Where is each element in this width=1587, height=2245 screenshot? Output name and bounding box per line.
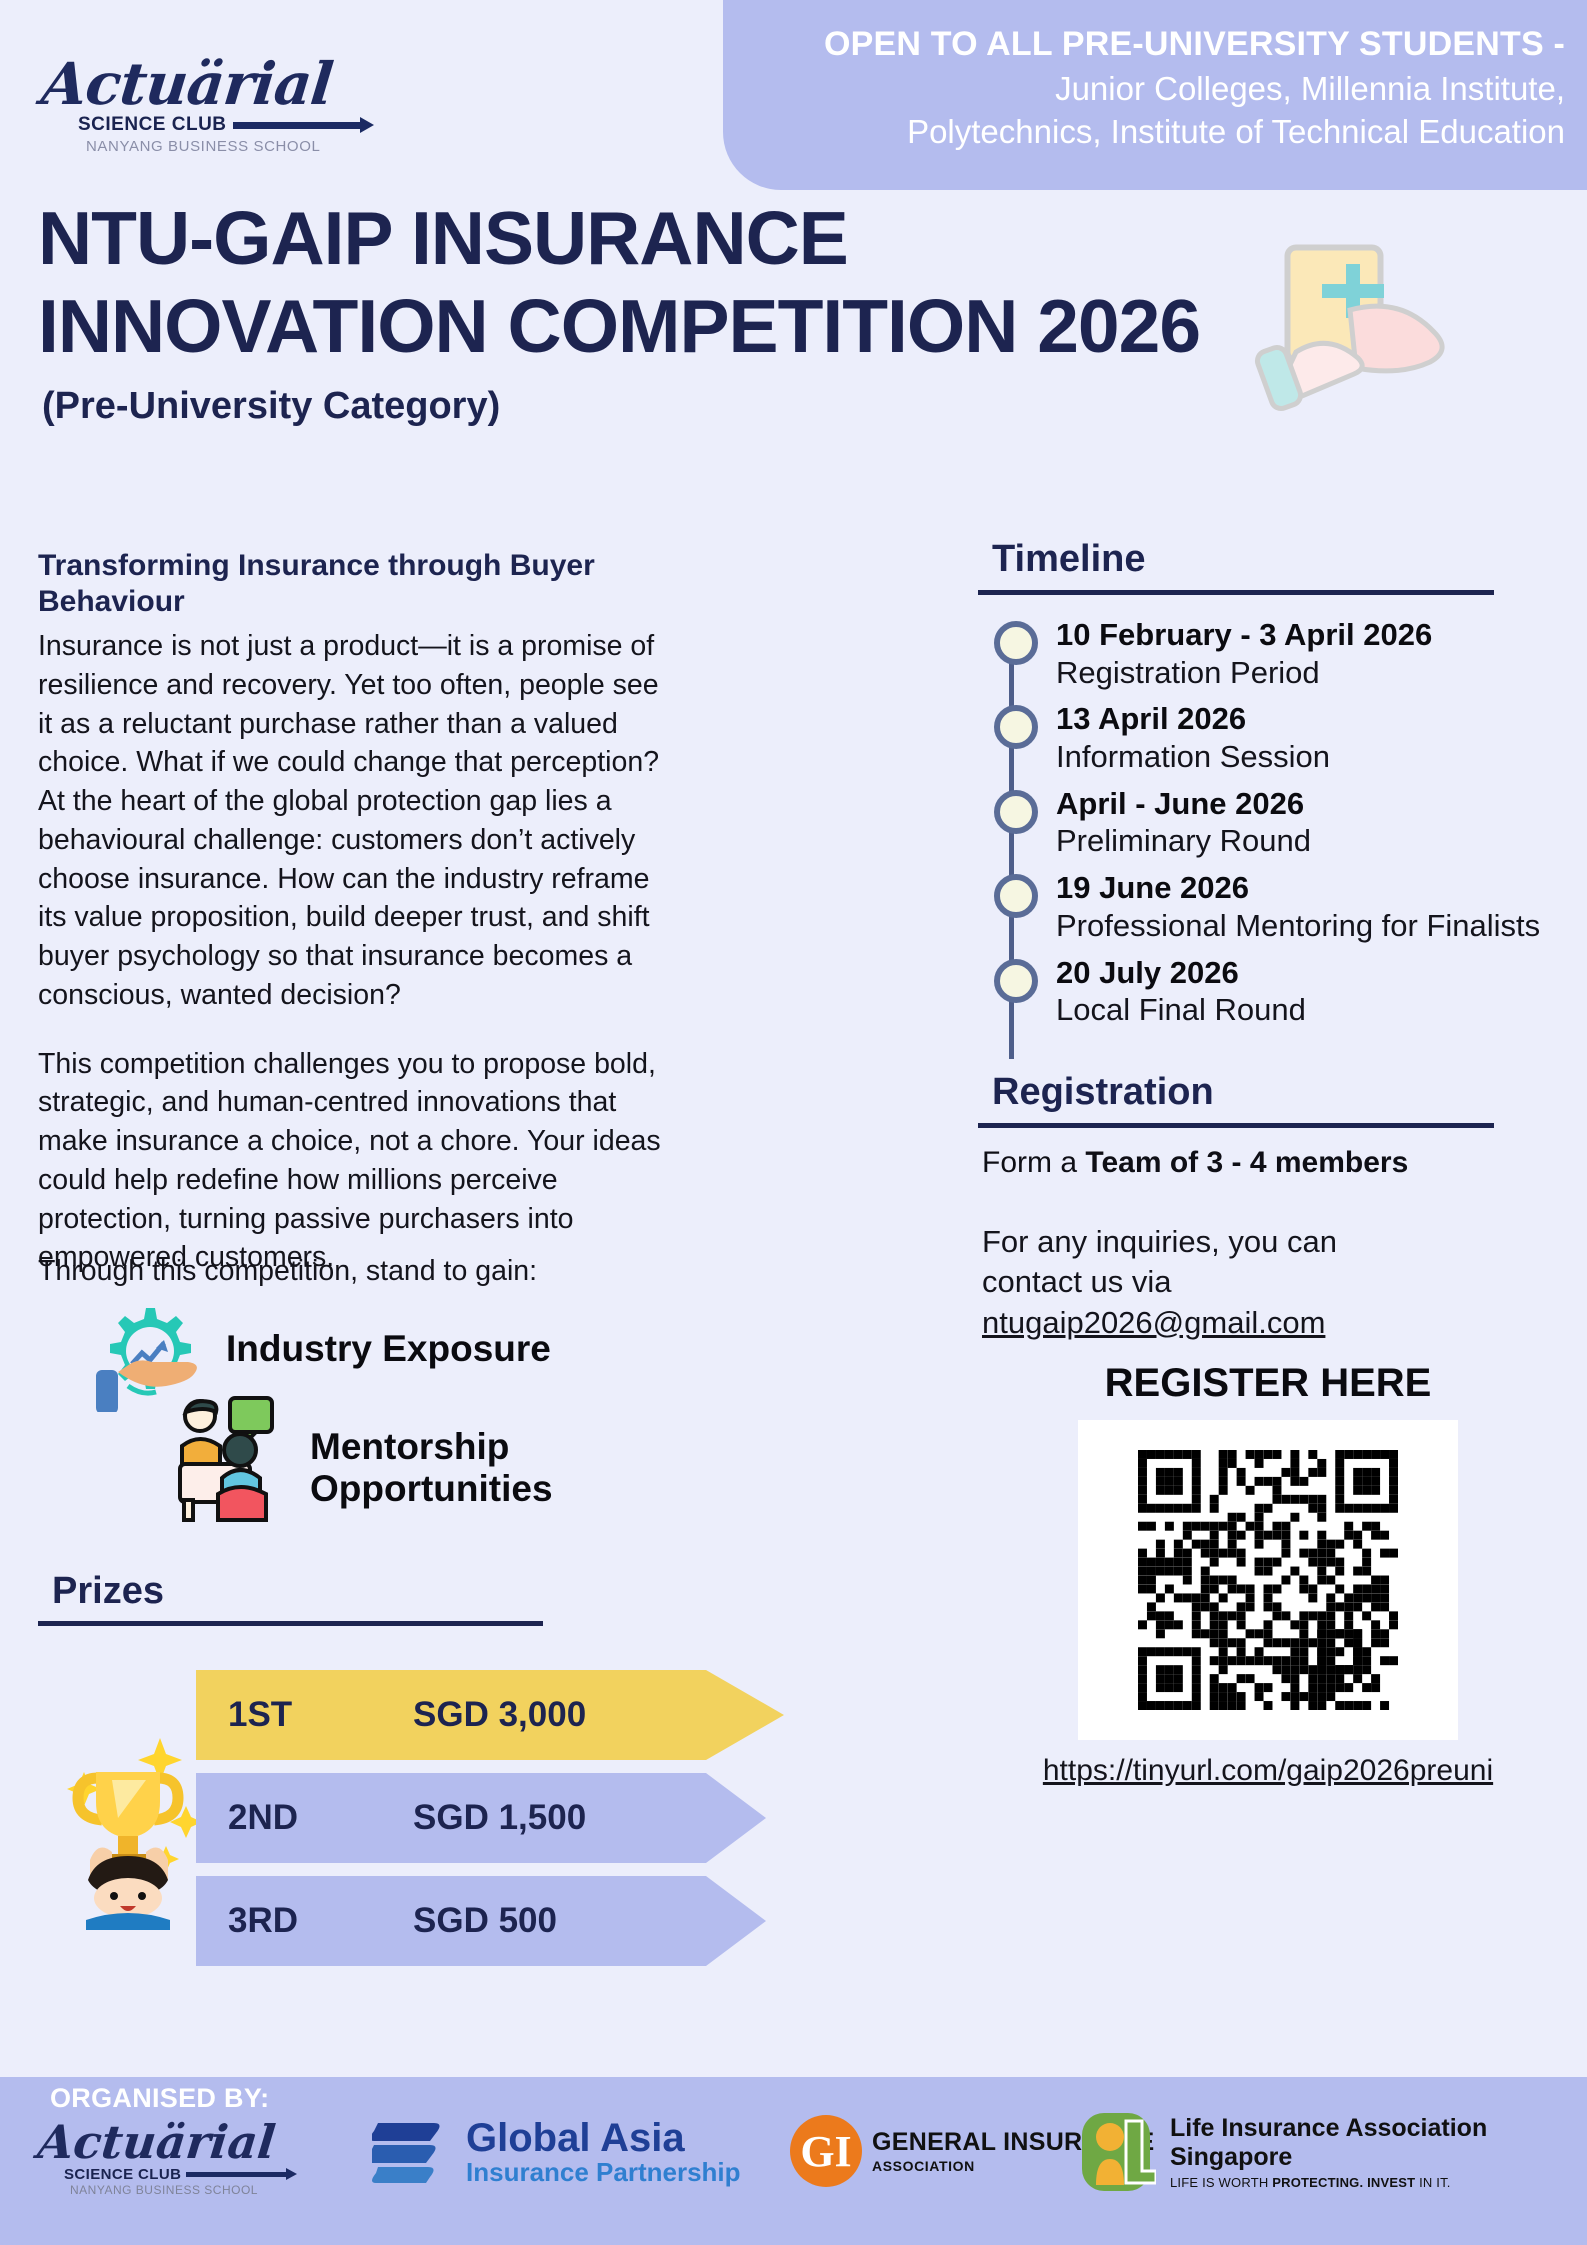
prize-rank-1: 2ND bbox=[228, 1798, 413, 1838]
intro-paragraph-1: Insurance is not just a product—it is a … bbox=[38, 627, 678, 1015]
logo-school-text: NANYANG BUSINESS SCHOOL bbox=[42, 138, 362, 155]
timeline-desc-1: Information Session bbox=[1056, 738, 1558, 776]
banner-line-1: OPEN TO ALL PRE-UNIVERSITY STUDENTS - bbox=[763, 22, 1565, 67]
lia-text: Life Insurance Association Singapore LIF… bbox=[1170, 2114, 1487, 2190]
timeline-desc-3: Professional Mentoring for Finalists bbox=[1056, 907, 1558, 945]
arrow-icon bbox=[186, 2172, 288, 2177]
registration-divider bbox=[978, 1123, 1494, 1128]
team-size: Team of 3 - 4 members bbox=[1085, 1146, 1408, 1179]
lia-name: Life Insurance Association bbox=[1170, 2114, 1487, 2143]
trophy-celebration-illustration bbox=[50, 1720, 210, 1930]
global-asia-sub: Insurance Partnership bbox=[466, 2158, 741, 2187]
timeline-desc-4: Local Final Round bbox=[1056, 991, 1558, 1029]
benefit-label-1: Mentorship Opportunities bbox=[310, 1426, 698, 1510]
eligibility-banner: OPEN TO ALL PRE-UNIVERSITY STUDENTS - Ju… bbox=[723, 0, 1587, 190]
intro-heading: Transforming Insurance through Buyer Beh… bbox=[38, 548, 678, 620]
timeline-divider bbox=[978, 590, 1494, 595]
timeline-heading: Timeline bbox=[978, 538, 1558, 581]
title-line-2: INNOVATION COMPETITION 2026 bbox=[38, 283, 1558, 371]
contact-line-1: For any inquiries, you can bbox=[982, 1222, 1558, 1262]
lia-tagline-b: PROTECTING. INVEST bbox=[1272, 2175, 1419, 2190]
footer-logo-wordmark: Actuärial bbox=[35, 2115, 291, 2169]
timeline-desc-2: Preliminary Round bbox=[1056, 822, 1558, 860]
prize-rank-2: 3RD bbox=[228, 1901, 413, 1941]
timeline-dot-icon bbox=[994, 874, 1038, 918]
footer-logo-actuarial: Actuärial SCIENCE CLUB NANYANG BUSINESS … bbox=[38, 2115, 288, 2197]
timeline-item: 13 April 2026 Information Session bbox=[986, 701, 1558, 775]
prize-rank-0: 1ST bbox=[228, 1695, 413, 1735]
timeline-dot-icon bbox=[994, 621, 1038, 665]
registration-qr-code[interactable] bbox=[1078, 1420, 1458, 1740]
poster-root: OPEN TO ALL PRE-UNIVERSITY STUDENTS - Ju… bbox=[0, 0, 1587, 2245]
benefit-item-mentorship: Mentorship Opportunities bbox=[38, 1402, 698, 1502]
intro-paragraph-2: This competition challenges you to propo… bbox=[38, 1045, 678, 1278]
registration-heading: Registration bbox=[978, 1071, 1558, 1114]
timeline-date-1: 13 April 2026 bbox=[1056, 701, 1558, 738]
timeline-desc-0: Registration Period bbox=[1056, 654, 1558, 692]
lia-tagline-c: IN IT. bbox=[1419, 2175, 1451, 2190]
prize-amount-2: SGD 500 bbox=[413, 1901, 557, 1941]
prize-row-3rd: 3RD SGD 500 bbox=[196, 1876, 976, 1966]
prizes-heading: Prizes bbox=[38, 1570, 978, 1613]
timeline-item: 20 July 2026 Local Final Round bbox=[986, 955, 1558, 1029]
team-prefix: Form a bbox=[982, 1146, 1085, 1179]
prize-amount-0: SGD 3,000 bbox=[413, 1695, 586, 1735]
timeline-item: 19 June 2026 Professional Mentoring for … bbox=[986, 870, 1558, 944]
timeline-dot-icon bbox=[994, 959, 1038, 1003]
register-here-label: REGISTER HERE bbox=[978, 1361, 1558, 1406]
timeline-list: 10 February - 3 April 2026 Registration … bbox=[978, 617, 1558, 1029]
lia-tagline: LIFE IS WORTH PROTECTING. INVEST IN IT. bbox=[1170, 2175, 1487, 2190]
page-title: NTU-GAIP INSURANCE INNOVATION COMPETITIO… bbox=[38, 195, 1558, 428]
lia-tagline-a: LIFE IS WORTH bbox=[1170, 2175, 1272, 2190]
timeline-section: Timeline 10 February - 3 April 2026 Regi… bbox=[978, 538, 1558, 1029]
timeline-dot-icon bbox=[994, 790, 1038, 834]
title-line-1: NTU-GAIP INSURANCE bbox=[38, 195, 1558, 283]
right-column: Timeline 10 February - 3 April 2026 Regi… bbox=[978, 538, 1558, 1788]
prize-amount-1: SGD 1,500 bbox=[413, 1798, 586, 1838]
title-subtitle: (Pre-University Category) bbox=[38, 385, 1558, 428]
registration-url-link[interactable]: https://tinyurl.com/gaip2026preuni bbox=[978, 1754, 1558, 1788]
prize-bar-arrow bbox=[706, 1876, 766, 1966]
benefit-label-0: Industry Exposure bbox=[226, 1328, 551, 1370]
contact-block: For any inquiries, you can contact us vi… bbox=[978, 1222, 1558, 1343]
timeline-date-3: 19 June 2026 bbox=[1056, 870, 1558, 907]
prizes-divider bbox=[38, 1621, 543, 1626]
mentorship-people-icon bbox=[178, 1394, 308, 1524]
benefits-intro: Through this competition, stand to gain: bbox=[38, 1255, 698, 1288]
timeline-date-0: 10 February - 3 April 2026 bbox=[1056, 617, 1558, 654]
global-asia-text: Global Asia Insurance Partnership bbox=[466, 2118, 741, 2187]
footer-logo-school-text: NANYANG BUSINESS SCHOOL bbox=[38, 2183, 288, 2197]
logo-wordmark: Actuärial bbox=[38, 50, 365, 118]
prize-bar-arrow bbox=[706, 1670, 784, 1760]
benefit-item-industry-exposure: Industry Exposure bbox=[38, 1302, 698, 1402]
actuarial-science-club-logo: Actuärial SCIENCE CLUB NANYANG BUSINESS … bbox=[42, 50, 362, 155]
arrow-icon bbox=[233, 122, 362, 129]
organised-by-label: ORGANISED BY: bbox=[50, 2083, 269, 2114]
contact-line-2: contact us via bbox=[982, 1262, 1558, 1302]
footer-logo-global-asia: Global Asia Insurance Partnership bbox=[372, 2117, 741, 2187]
intro-section: Transforming Insurance through Buyer Beh… bbox=[38, 548, 678, 1277]
gia-mark-icon: GI bbox=[790, 2115, 862, 2187]
global-asia-mark-icon bbox=[372, 2117, 452, 2187]
registration-section: Registration Form a Team of 3 - 4 member… bbox=[978, 1071, 1558, 1788]
banner-line-2: Junior Colleges, Millennia Institute, bbox=[763, 67, 1565, 111]
prize-rows: 1ST SGD 3,000 2ND SGD 1,500 3RD SGD 500 bbox=[196, 1670, 976, 1979]
benefits-section: Through this competition, stand to gain:… bbox=[38, 1255, 698, 1502]
timeline-date-2: April - June 2026 bbox=[1056, 786, 1558, 823]
prizes-section: Prizes bbox=[38, 1570, 978, 1626]
prize-bar-arrow bbox=[706, 1773, 766, 1863]
footer-logo-lia: Life Insurance Association Singapore LIF… bbox=[1080, 2111, 1487, 2193]
prize-row-2nd: 2ND SGD 1,500 bbox=[196, 1773, 976, 1863]
banner-line-3: Polytechnics, Institute of Technical Edu… bbox=[763, 110, 1565, 154]
timeline-item: April - June 2026 Preliminary Round bbox=[986, 786, 1558, 860]
timeline-dot-icon bbox=[994, 705, 1038, 749]
contact-email-link[interactable]: ntugaip2026@gmail.com bbox=[982, 1303, 1558, 1343]
timeline-item: 10 February - 3 April 2026 Registration … bbox=[986, 617, 1558, 691]
global-asia-name: Global Asia bbox=[466, 2118, 741, 2158]
prize-row-1st: 1ST SGD 3,000 bbox=[196, 1670, 976, 1760]
team-requirement: Form a Team of 3 - 4 members bbox=[978, 1146, 1558, 1180]
lia-sub: Singapore bbox=[1170, 2143, 1487, 2172]
qr-canvas[interactable] bbox=[1138, 1450, 1398, 1710]
footer-bar: ORGANISED BY: Actuärial SCIENCE CLUB NAN… bbox=[0, 2077, 1587, 2245]
lia-mark-icon bbox=[1080, 2111, 1156, 2193]
timeline-date-4: 20 July 2026 bbox=[1056, 955, 1558, 992]
